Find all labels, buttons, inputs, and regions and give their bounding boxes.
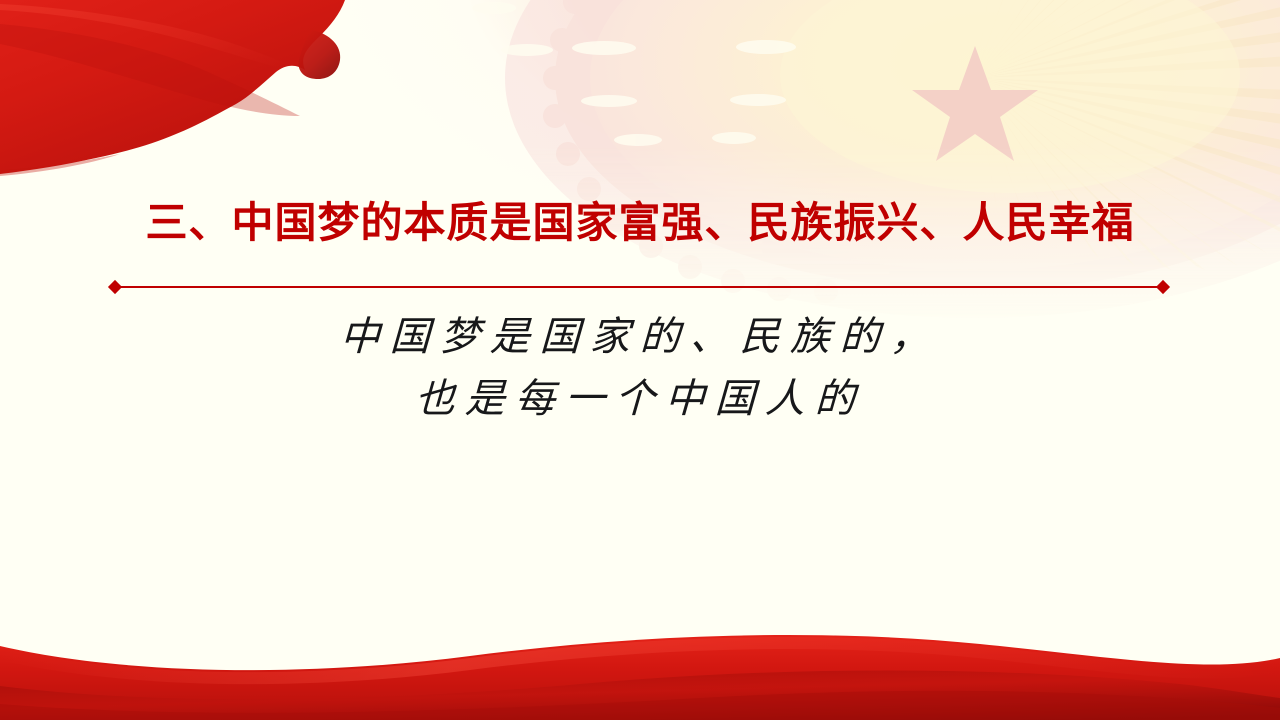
slide-canvas: 三、中国梦的本质是国家富强、民族振兴、人民幸福 中国梦是国家的、民族的， 也是每… bbox=[0, 0, 1280, 720]
body-line-2: 也是每一个中国人的 bbox=[0, 368, 1280, 430]
body-text: 中国梦是国家的、民族的， 也是每一个中国人的 bbox=[0, 306, 1280, 431]
divider-diamond-right-icon bbox=[1156, 280, 1170, 294]
slide-content: 三、中国梦的本质是国家富强、民族振兴、人民幸福 中国梦是国家的、民族的， 也是每… bbox=[0, 0, 1280, 720]
page-title: 三、中国梦的本质是国家富强、民族振兴、人民幸福 bbox=[0, 198, 1280, 248]
divider-line bbox=[115, 286, 1163, 288]
body-line-1: 中国梦是国家的、民族的， bbox=[0, 306, 1280, 368]
title-divider bbox=[110, 286, 1168, 288]
